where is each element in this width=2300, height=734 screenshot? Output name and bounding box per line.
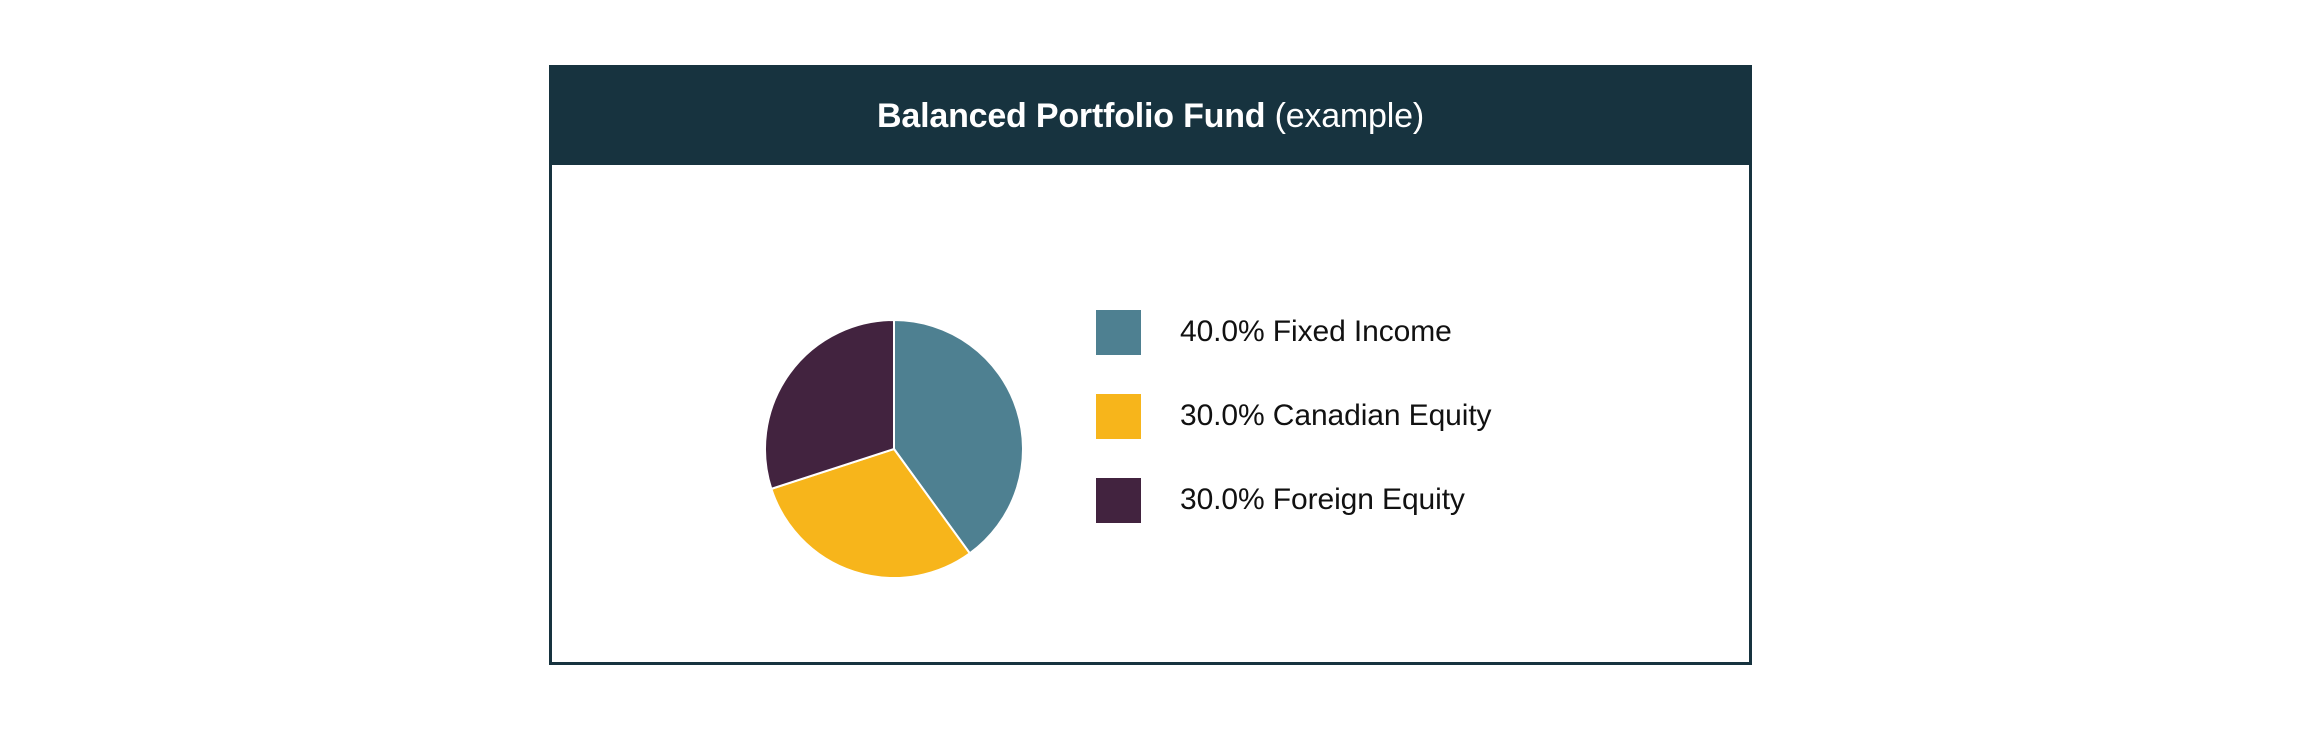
card-body: 40.0% Fixed Income 30.0% Canadian Equity…	[552, 165, 1749, 662]
page-title-suffix: (example)	[1265, 97, 1424, 135]
legend-item-canadian-equity: 30.0% Canadian Equity	[1096, 374, 1656, 458]
page-title: Balanced Portfolio Fund (example)	[877, 97, 1424, 136]
legend-item-fixed-income: 40.0% Fixed Income	[1096, 290, 1656, 374]
legend-swatch-icon	[1096, 478, 1141, 523]
legend-swatch-icon	[1096, 310, 1141, 355]
chart-legend: 40.0% Fixed Income 30.0% Canadian Equity…	[1096, 290, 1656, 542]
legend-item-label: 40.0% Fixed Income	[1180, 315, 1452, 349]
pie-chart-svg	[765, 320, 1023, 578]
pie-slice-group	[765, 320, 1023, 578]
legend-item-label: 30.0% Foreign Equity	[1180, 483, 1465, 517]
page-canvas: Balanced Portfolio Fund (example) 40.0% …	[0, 0, 2300, 734]
pie-chart	[765, 320, 1023, 578]
portfolio-card: Balanced Portfolio Fund (example) 40.0% …	[549, 65, 1752, 665]
card-header: Balanced Portfolio Fund (example)	[552, 68, 1749, 165]
page-title-bold: Balanced Portfolio Fund	[877, 97, 1265, 135]
legend-item-label: 30.0% Canadian Equity	[1180, 399, 1491, 433]
legend-item-foreign-equity: 30.0% Foreign Equity	[1096, 458, 1656, 542]
legend-swatch-icon	[1096, 394, 1141, 439]
